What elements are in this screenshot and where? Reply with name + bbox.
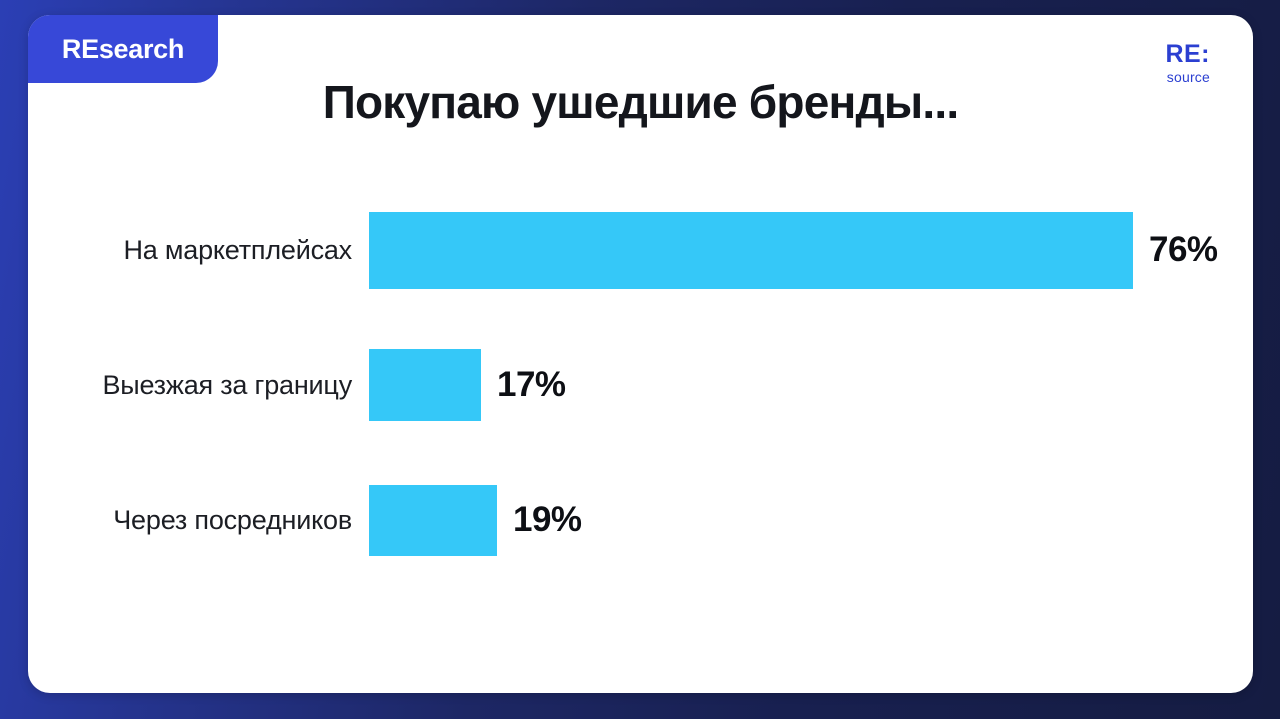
page-title: Покупаю ушедшие бренды... (28, 77, 1253, 128)
resource-logo: RE: source (1165, 42, 1210, 84)
bar-value-label: 76% (1149, 230, 1218, 270)
bar-fill (369, 485, 497, 556)
bar-fill (369, 212, 1133, 289)
research-badge: REsearch (28, 15, 218, 83)
resource-logo-sub: source (1165, 70, 1210, 84)
bar-value-label: 19% (513, 500, 582, 540)
bar-row: Выезжая за границу 17% (28, 345, 1253, 425)
slide: REsearch RE: source Покупаю ушедшие брен… (0, 0, 1280, 719)
research-badge-label: REsearch (62, 36, 184, 63)
bar-category-label: На маркетплейсах (28, 235, 369, 266)
bar-category-label: Через посредников (28, 505, 369, 536)
bar-fill (369, 349, 481, 421)
bar-track: 19% (369, 485, 1253, 556)
bar-value-label: 17% (497, 365, 566, 405)
bar-row: Через посредников 19% (28, 480, 1253, 560)
resource-logo-main: RE: (1165, 42, 1210, 67)
bar-category-label: Выезжая за границу (28, 370, 369, 401)
bar-track: 17% (369, 349, 1253, 421)
bar-track: 76% (369, 212, 1253, 289)
bar-chart: На маркетплейсах 76% Выезжая за границу … (28, 180, 1253, 620)
bar-row: На маркетплейсах 76% (28, 210, 1253, 290)
content-card: REsearch RE: source Покупаю ушедшие брен… (28, 15, 1253, 693)
